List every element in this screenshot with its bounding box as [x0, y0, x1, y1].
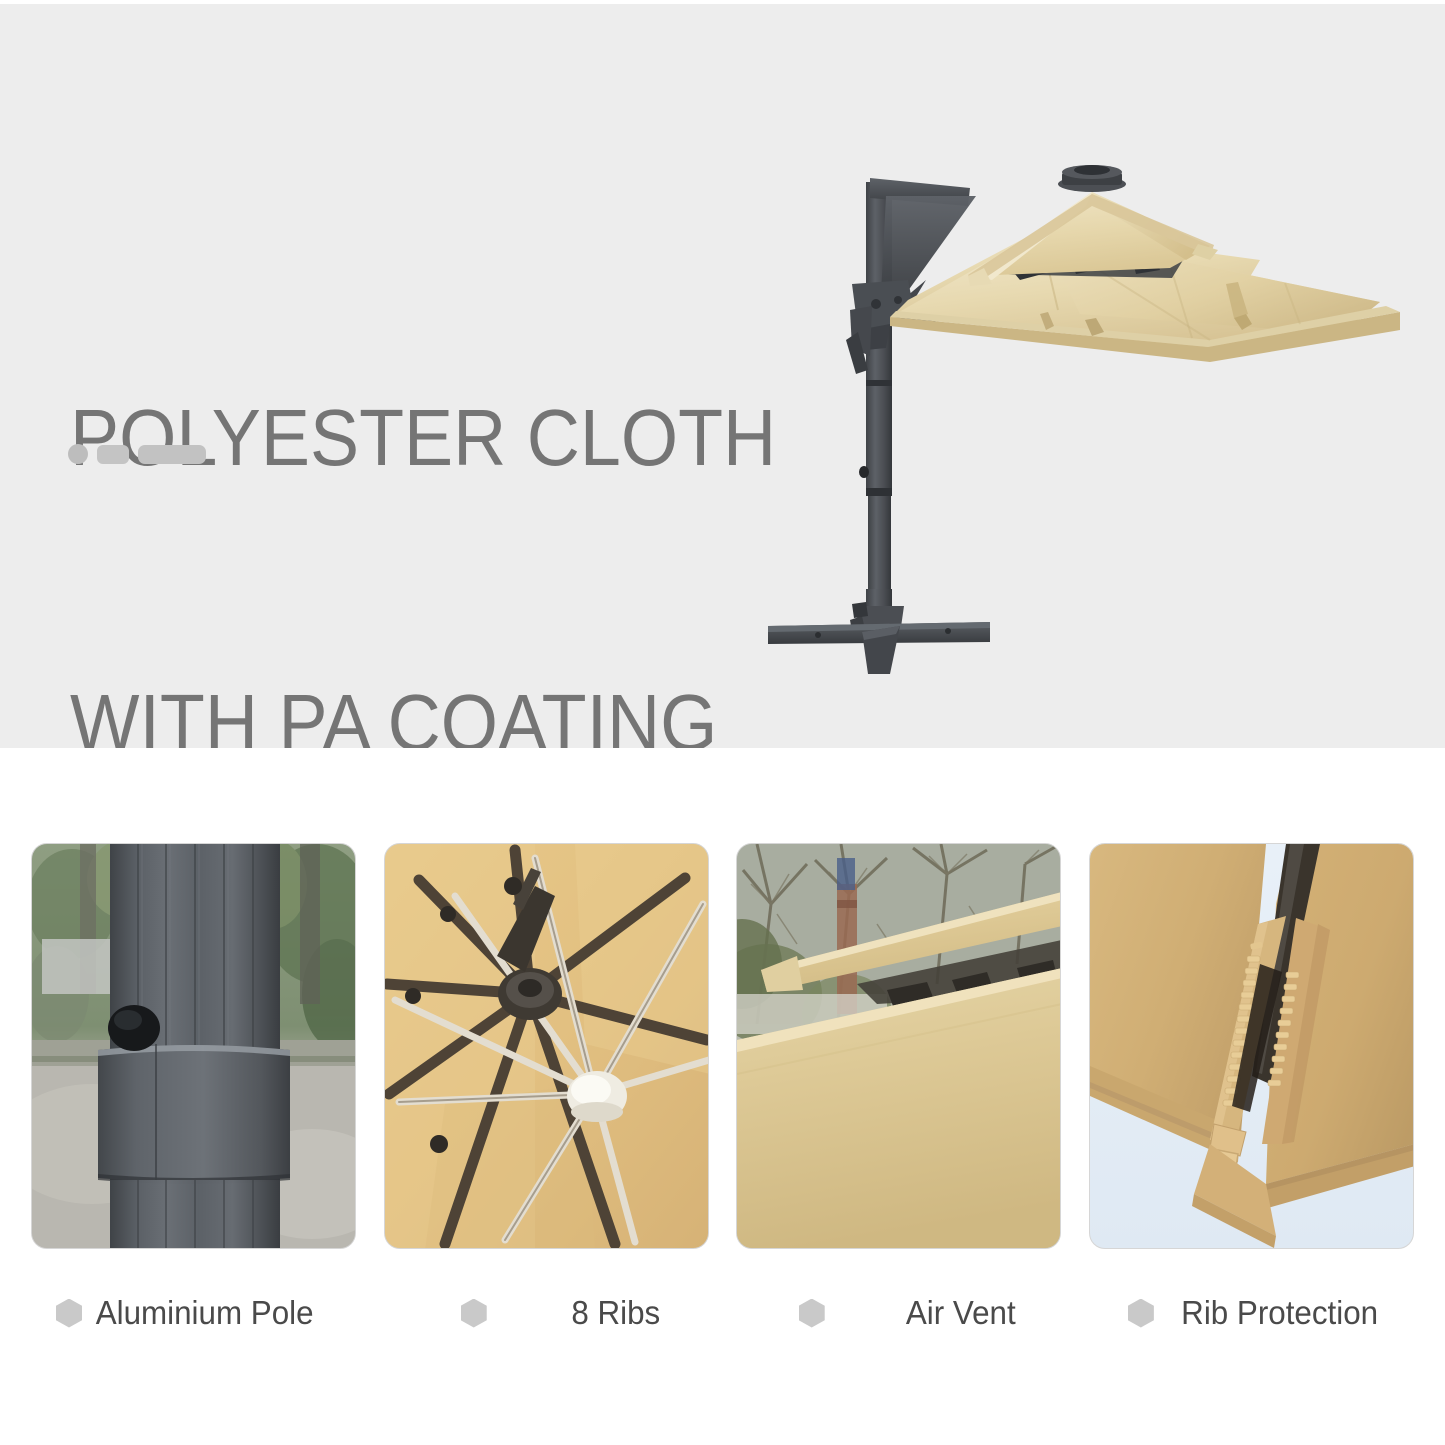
photo-rib-protection[interactable] [1089, 843, 1414, 1249]
hexagon-bullet-icon [56, 1299, 82, 1328]
feature-label-rib-protection: Rib Protection [1097, 1283, 1414, 1343]
hexagon-bullet-icon [799, 1299, 825, 1328]
feature-label-8-ribs: 8 Ribs [403, 1283, 720, 1343]
photo-air-vent[interactable] [736, 843, 1061, 1249]
hero-panel: POLYESTER CLOTH WITH PA COATING [0, 4, 1445, 748]
feature-label-text: 8 Ribs [571, 1294, 660, 1332]
photo-8-ribs[interactable] [384, 843, 709, 1249]
decorative-bars [68, 444, 206, 464]
headline-line-1: POLYESTER CLOTH [70, 390, 776, 485]
feature-label-text: Air Vent [906, 1294, 1016, 1332]
photo-aluminium-pole[interactable] [31, 843, 356, 1249]
feature-photo-row [0, 843, 1445, 1249]
feature-label-aluminium-pole: Aluminium Pole [31, 1283, 373, 1343]
feature-label-text: Aluminium Pole [96, 1294, 314, 1332]
feature-label-air-vent: Air Vent [750, 1283, 1067, 1343]
hexagon-bullet-icon [1128, 1299, 1154, 1328]
product-image-cantilever-umbrella [740, 134, 1400, 679]
feature-label-row: Aluminium Pole 8 Ribs Air Vent Rib Prote… [0, 1283, 1445, 1343]
deco-bar-small-icon [97, 445, 129, 464]
deco-bar-large-icon [138, 445, 206, 464]
hexagon-bullet-icon [461, 1299, 487, 1328]
deco-dot-icon [68, 444, 88, 464]
feature-label-text: Rib Protection [1181, 1294, 1378, 1332]
headline-line-2: WITH PA COATING [70, 675, 776, 748]
page-title: POLYESTER CLOTH WITH PA COATING [70, 200, 776, 748]
